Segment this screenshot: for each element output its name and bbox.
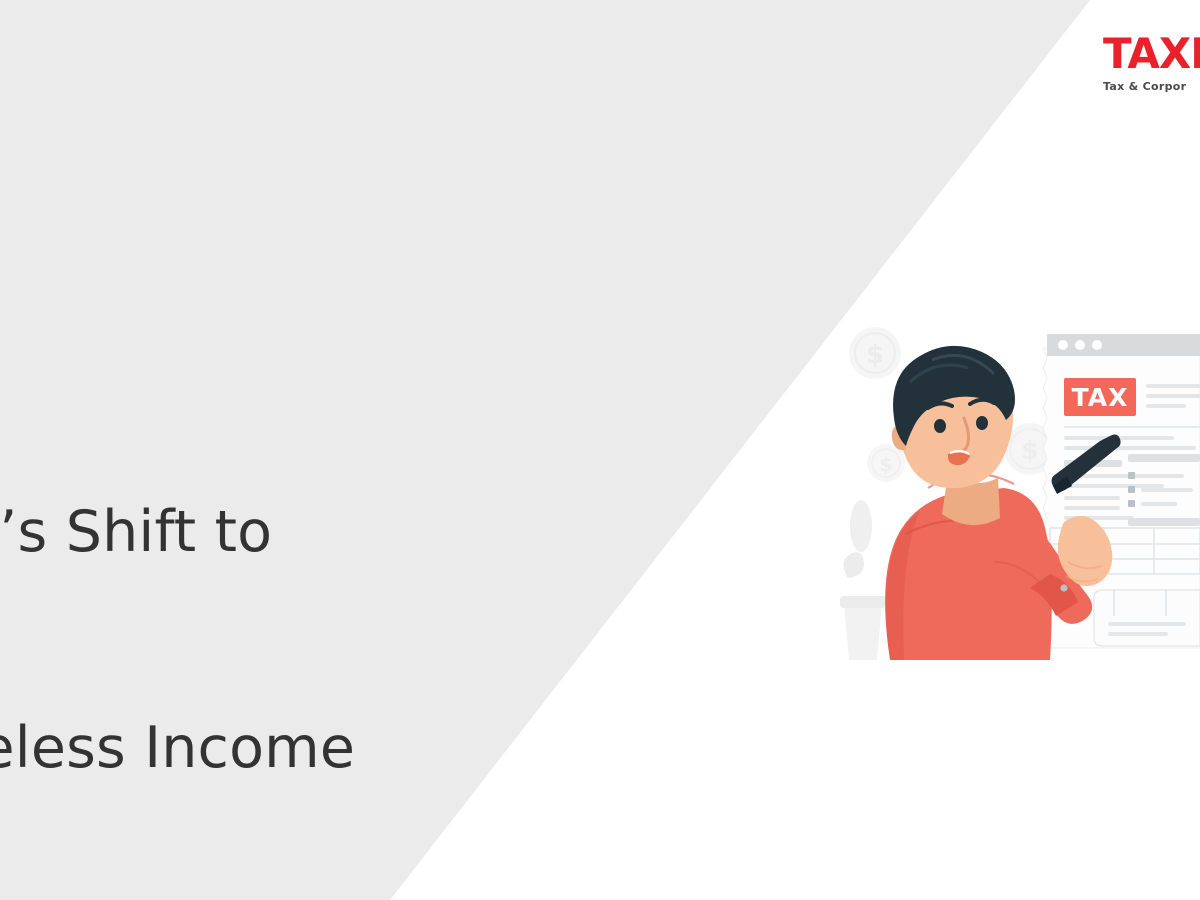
logo-wordmark: TAXM — [1103, 32, 1200, 76]
headline-line-2: celess Income — [0, 712, 508, 784]
tax-badge: TAX — [1064, 378, 1136, 416]
cuff-button — [1060, 584, 1067, 591]
tax-assessment-illustration: $ $ $ — [836, 326, 1200, 660]
svg-text:$: $ — [866, 340, 884, 370]
dollar-coin-icon-large: $ — [849, 327, 901, 379]
headline-line-1: ia’s Shift to — [0, 496, 508, 568]
browser-chrome-bar — [1047, 334, 1200, 356]
svg-text:TAX: TAX — [1072, 383, 1129, 412]
browser-dot-3 — [1092, 340, 1102, 350]
logo-tagline: Tax & Corpor — [1103, 80, 1200, 93]
document-rule-1 — [1064, 426, 1200, 428]
browser-dot-2 — [1075, 340, 1085, 350]
eye-right — [976, 416, 988, 430]
browser-dot-1 — [1058, 340, 1068, 350]
page-title: ia’s Shift to celess Income x Assessment — [0, 352, 508, 900]
plant-decoration — [840, 500, 886, 660]
dollar-coin-icon-medium-1: $ — [867, 444, 905, 482]
eye-left — [934, 419, 946, 433]
document-footer-panel — [1094, 590, 1200, 646]
article-banner: ia’s Shift to celess Income x Assessment… — [0, 0, 1200, 900]
taxmann-logo[interactable]: TAXM Tax & Corpor — [1103, 32, 1200, 93]
svg-text:$: $ — [879, 454, 892, 476]
svg-text:$: $ — [1021, 436, 1038, 465]
